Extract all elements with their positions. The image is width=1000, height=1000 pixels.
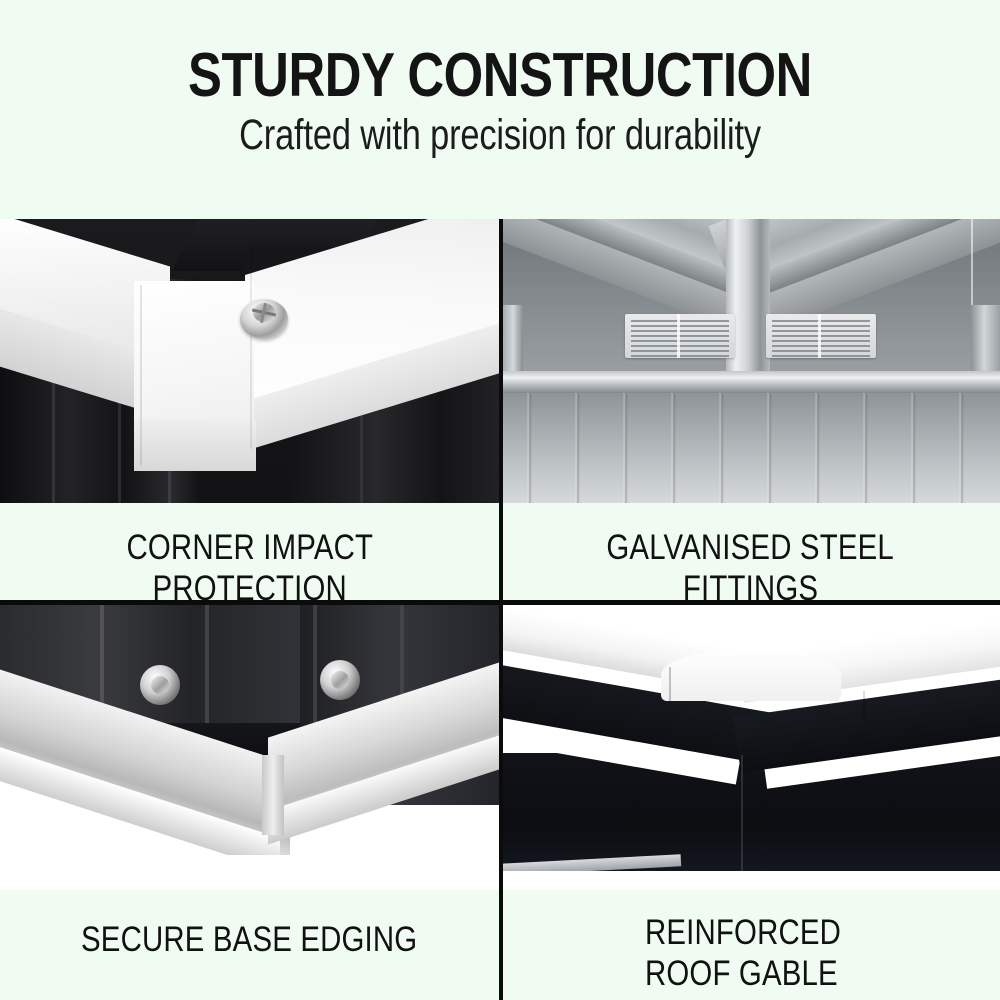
header: STURDY CONSTRUCTION Crafted with precisi…: [0, 0, 1000, 219]
base-edging-corner: [262, 755, 284, 835]
cross-beam: [501, 371, 1000, 393]
feature-image-corner-impact-protection: [0, 219, 499, 503]
grid-divider-horizontal-right: [503, 600, 1000, 605]
corner-cap-block-face: [134, 419, 256, 471]
grid-divider-horizontal-left: [0, 600, 499, 605]
caption-line-1: CORNER IMPACT: [126, 527, 373, 568]
feature-card-corner-impact-protection: CORNER IMPACT PROTECTION: [0, 219, 499, 600]
caption-line-2: PROTECTION: [152, 568, 346, 600]
louvre-vent-right: [766, 314, 876, 358]
caption-line-1: SECURE BASE EDGING: [81, 919, 417, 960]
feature-caption-galvanised-steel-fittings: GALVANISED STEEL FITTINGS: [501, 503, 1000, 600]
ridge-cap-seam: [669, 667, 671, 701]
feature-card-reinforced-roof-gable: REINFORCED ROOF GABLE: [501, 605, 1000, 1000]
feature-card-galvanised-steel-fittings: GALVANISED STEEL FITTINGS: [501, 219, 1000, 600]
page-title: STURDY CONSTRUCTION: [90, 45, 910, 107]
caption-line-1: GALVANISED STEEL: [607, 527, 895, 568]
feature-caption-corner-impact-protection: CORNER IMPACT PROTECTION: [0, 503, 499, 600]
feature-image-secure-base-edging: [0, 605, 499, 890]
cap-seam: [140, 285, 142, 465]
photo-backdrop: [501, 871, 1000, 890]
vent-divider: [677, 314, 680, 358]
louvre-vent-left: [625, 314, 735, 358]
feature-caption-reinforced-roof-gable: REINFORCED ROOF GABLE: [501, 890, 1000, 994]
ridge-cap: [661, 649, 841, 701]
steel-bracket-right: [971, 305, 1000, 373]
steel-bracket-left: [501, 305, 523, 373]
caption-line-1: REINFORCED: [645, 912, 841, 953]
page-subtitle: Crafted with precision for durability: [100, 112, 900, 158]
bolt-core: [151, 676, 169, 694]
feature-image-reinforced-roof-gable: [501, 605, 1000, 890]
ridge-cap-seam: [863, 691, 865, 719]
caption-line-2: ROOF GABLE: [645, 953, 838, 994]
ribbed-wall-panel: [501, 393, 1000, 503]
bolt-core: [331, 671, 349, 689]
feature-card-secure-base-edging: SECURE BASE EDGING: [0, 605, 499, 1000]
vent-divider: [818, 314, 821, 358]
caption-line-2: FITTINGS: [683, 568, 818, 600]
grid-divider-vertical: [499, 219, 503, 1000]
feature-caption-secure-base-edging: SECURE BASE EDGING: [0, 890, 499, 960]
cap-seam: [250, 249, 252, 449]
gable-panel-seam: [741, 755, 743, 873]
feature-image-galvanised-steel-fittings: [501, 219, 1000, 503]
infographic-root: STURDY CONSTRUCTION Crafted with precisi…: [0, 0, 1000, 1000]
photo-backdrop: [0, 855, 499, 890]
